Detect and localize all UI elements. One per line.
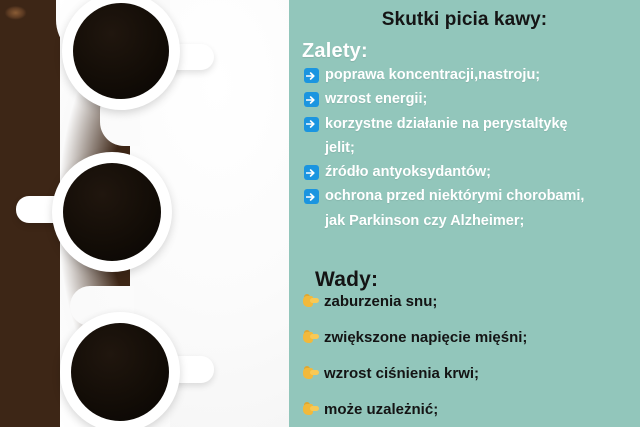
- list-item: zwiększone napięcie mięśni;: [289, 328, 640, 348]
- blue-arrow-icon: [297, 66, 325, 83]
- pros-item-text: poprawa koncentracji,nastroju;: [325, 66, 540, 85]
- pros-item-text: korzystne działanie na perystaltykę: [325, 115, 568, 134]
- blue-arrow-icon: [297, 115, 325, 132]
- cons-item-text: zaburzenia snu;: [324, 292, 437, 312]
- blue-arrow-icon: [297, 163, 325, 180]
- list-item: może uzależnić;: [289, 400, 640, 420]
- pros-item-text: ochrona przed niektórymi chorobami,: [325, 187, 584, 206]
- list-item: źródło antyoksydantów;: [289, 163, 640, 182]
- page-title: Skutki picia kawy:: [289, 9, 640, 31]
- coffee-cup-bottom: [60, 312, 180, 427]
- list-item: wzrost ciśnienia krwi;: [289, 364, 640, 384]
- cons-heading: Wady:: [315, 268, 378, 292]
- cons-item-text: wzrost ciśnienia krwi;: [324, 364, 479, 384]
- effects-panel: Skutki picia kawy: Zalety: poprawa konce…: [289, 0, 640, 427]
- cons-list: zaburzenia snu; zwiększone napięcie mięś…: [289, 292, 640, 427]
- cons-item-text: może uzależnić;: [324, 400, 438, 420]
- list-item: ochrona przed niektórymi chorobami,: [289, 187, 640, 206]
- list-item: korzystne działanie na perystaltykę: [289, 115, 640, 134]
- pros-item-continuation: jelit;: [289, 139, 640, 158]
- list-item: wzrost energii;: [289, 90, 640, 109]
- pros-item-text: wzrost energii;: [325, 90, 427, 109]
- pointing-hand-icon: [296, 292, 324, 308]
- pointing-hand-icon: [296, 328, 324, 344]
- blue-arrow-icon: [297, 187, 325, 204]
- pros-heading: Zalety:: [302, 40, 368, 63]
- pros-item-text: źródło antyoksydantów;: [325, 163, 491, 182]
- infographic-page: Skutki picia kawy: Zalety: poprawa konce…: [0, 0, 640, 427]
- coffee-photo: [0, 0, 289, 427]
- pros-item-continuation: jak Parkinson czy Alzheimer;: [289, 212, 640, 231]
- list-item: zaburzenia snu;: [289, 292, 640, 312]
- list-item: poprawa koncentracji,nastroju;: [289, 66, 640, 85]
- cons-item-text: zwiększone napięcie mięśni;: [324, 328, 527, 348]
- pros-list: poprawa koncentracji,nastroju; wzrost en…: [289, 66, 640, 236]
- pointing-hand-icon: [296, 400, 324, 416]
- pointing-hand-icon: [296, 364, 324, 380]
- coffee-cup-middle: [52, 152, 172, 272]
- blue-arrow-icon: [297, 90, 325, 107]
